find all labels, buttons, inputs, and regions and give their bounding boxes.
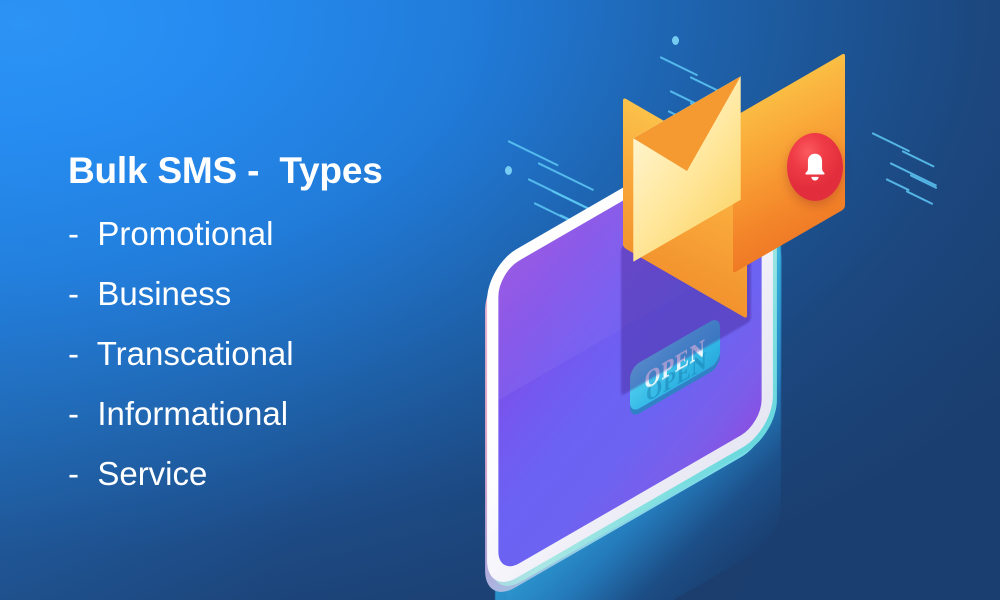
bell-icon [802, 152, 828, 182]
list-item: - Promotional [68, 204, 488, 264]
list-item: - Business [68, 264, 488, 324]
envelope-flap-triangle [633, 76, 740, 202]
list-item: - Service [68, 444, 488, 504]
smartphone-icon: OPEN OPEN [445, 95, 965, 515]
decor-dot-2 [672, 36, 679, 45]
list-item: - Informational [68, 384, 488, 444]
notification-badge [787, 133, 843, 201]
list-item: - Transcational [68, 324, 488, 384]
text-block: Bulk SMS - Types - Promotional - Busines… [68, 148, 488, 504]
envelope-icon [605, 97, 845, 327]
banner-image: Bulk SMS - Types - Promotional - Busines… [0, 0, 1000, 600]
page-title: Bulk SMS - Types [68, 148, 488, 194]
